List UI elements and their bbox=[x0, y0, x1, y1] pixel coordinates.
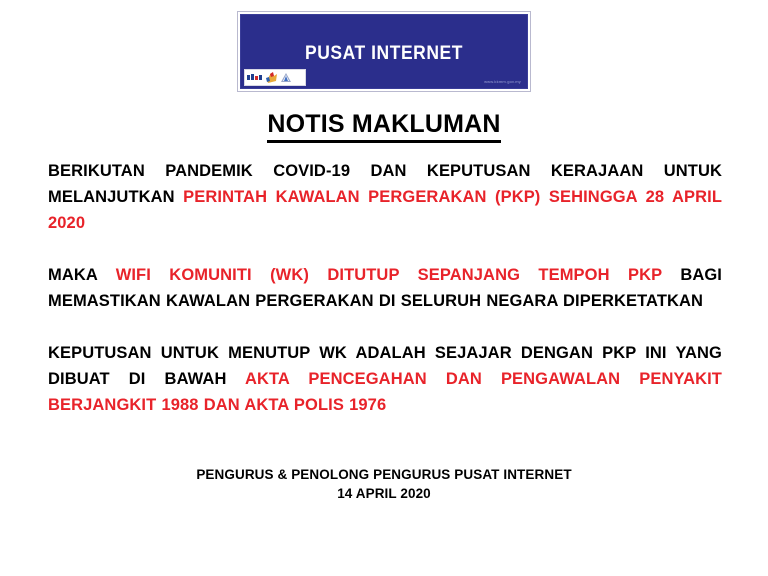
notice-footer: PENGURUS & PENOLONG PENGURUS PUSAT INTER… bbox=[0, 465, 768, 503]
agency-logo-mark-icon bbox=[247, 72, 263, 83]
page-title: NOTIS MAKLUMAN bbox=[0, 110, 768, 143]
notice-paragraph-1: BERIKUTAN PANDEMIK COVID-19 DAN KEPUTUSA… bbox=[48, 158, 722, 236]
notice-paragraph-2: MAKA WIFI KOMUNITI (WK) DITUTUP SEPANJAN… bbox=[48, 262, 722, 314]
page-title-text: NOTIS MAKLUMAN bbox=[267, 110, 500, 143]
pusat-internet-banner: PUSAT INTERNET bbox=[237, 11, 531, 92]
agency-logo-triangle-icon bbox=[280, 72, 292, 83]
banner-logo-strip bbox=[244, 69, 306, 86]
agency-logo-hand-icon bbox=[265, 72, 278, 84]
banner-website-url: www.kkmm.gov.my bbox=[484, 79, 521, 84]
paragraph-2-run-1: MAKA bbox=[48, 266, 116, 284]
notice-body: BERIKUTAN PANDEMIK COVID-19 DAN KEPUTUSA… bbox=[48, 158, 722, 418]
footer-signatory: PENGURUS & PENOLONG PENGURUS PUSAT INTER… bbox=[0, 465, 768, 484]
banner-inner: PUSAT INTERNET bbox=[240, 14, 528, 89]
notice-paragraph-3: KEPUTUSAN UNTUK MENUTUP WK ADALAH SEJAJA… bbox=[48, 340, 722, 418]
notice-page: PUSAT INTERNET bbox=[0, 0, 768, 576]
banner-title: PUSAT INTERNET bbox=[252, 43, 515, 65]
paragraph-2-run-2: WIFI KOMUNITI (WK) DITUTUP SEPANJANG TEM… bbox=[116, 266, 681, 284]
footer-date: 14 APRIL 2020 bbox=[0, 484, 768, 503]
